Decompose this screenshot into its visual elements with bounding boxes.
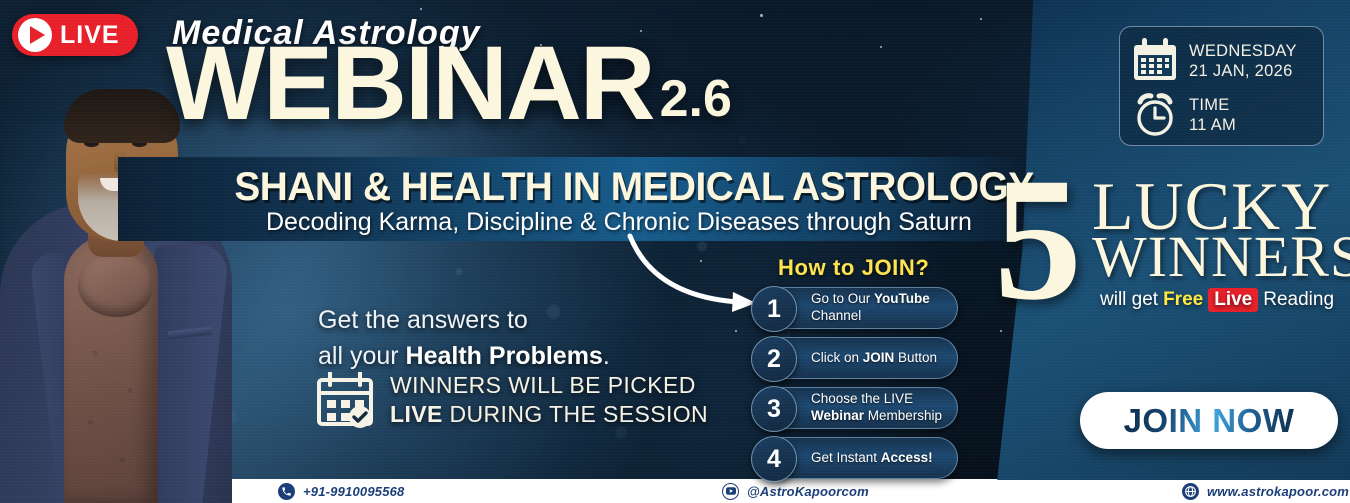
webinar-promo-banner: LIVE Medical Astrology WEBINAR 2.6 SHANI… [0, 0, 1350, 503]
schedule-date-text: WEDNESDAY 21 JAN, 2026 [1189, 42, 1297, 82]
play-icon [18, 18, 52, 52]
step-4-bold: Access! [881, 450, 933, 465]
step-4-pre: Get Instant [811, 450, 881, 465]
step-label-2: Click on JOIN Button [811, 350, 943, 367]
step-3-bold: Webinar [811, 408, 864, 423]
howto-steps: 1 Go to Our YouTube Channel 2 Click on J… [762, 287, 958, 487]
tagline-free: Free [1163, 289, 1203, 311]
tagline-pre: will get [1100, 289, 1158, 311]
tagline-post: Reading [1263, 289, 1334, 311]
schedule-time-text: TIME 11 AM [1189, 96, 1236, 136]
lucky-word-2: WINNERS [1092, 228, 1350, 286]
winners-notice: WINNERS WILL BE PICKED LIVE DURING THE S… [316, 371, 708, 430]
join-now-label: JOIN NOW [1124, 402, 1295, 440]
title-main: WEBINAR [166, 36, 654, 133]
step-3-pre: Choose the LIVE [811, 391, 913, 406]
footer-website-text: www.astrokapoor.com [1207, 484, 1349, 499]
step-1-pre: Go to Our [811, 291, 874, 306]
answers-line-2-pre: all your [318, 342, 406, 370]
answers-line-2: all your Health Problems. [318, 339, 610, 375]
step-label-3: Choose the LIVE Webinar Membership [811, 391, 957, 424]
schedule-time-row: TIME 11 AM [1132, 91, 1313, 141]
calendar-check-icon [316, 372, 374, 428]
footer-phone-text: +91-9910095568 [303, 484, 404, 499]
lucky-winners-block: 5 LUCKY WINNERS will get Free Live Readi… [992, 166, 1344, 316]
step-2-bold: JOIN [863, 350, 895, 365]
step-number-1: 1 [751, 286, 797, 332]
step-number-2: 2 [751, 336, 797, 382]
alarm-clock-icon [1132, 91, 1178, 142]
step-number-3: 3 [751, 386, 797, 432]
step-number-4: 4 [751, 436, 797, 482]
youtube-icon [722, 483, 739, 500]
live-label: LIVE [60, 23, 120, 48]
winners-line-2-bold: LIVE [390, 401, 443, 427]
answers-line-2-bold: Health Problems [406, 342, 603, 370]
schedule-date: 21 JAN, 2026 [1189, 62, 1297, 82]
band-subtitle: Decoding Karma, Discipline & Chronic Dis… [266, 208, 972, 237]
join-now-button[interactable]: JOIN NOW [1080, 392, 1338, 449]
footer-website[interactable]: www.astrokapoor.com [1182, 483, 1349, 500]
title-version: 2.6 [660, 73, 732, 133]
globe-icon [1182, 483, 1199, 500]
howto-heading: How to JOIN? [778, 255, 929, 281]
tagline-live-badge: Live [1208, 288, 1258, 312]
winners-line-1: WINNERS WILL BE PICKED [390, 372, 696, 398]
step-item-4[interactable]: 4 Get Instant Access! [762, 437, 958, 479]
schedule-box: WEDNESDAY 21 JAN, 2026 TIME 11 AM [1119, 26, 1324, 146]
answers-line-1: Get the answers to [318, 303, 610, 339]
step-2-post: Button [894, 350, 937, 365]
step-3-post: Membership [864, 408, 942, 423]
step-1-bold: YouTube [874, 291, 930, 306]
winners-line-2-rest: DURING THE SESSION [443, 401, 708, 427]
lucky-tagline: will get Free Live Reading [1100, 288, 1334, 312]
subtitle-band: SHANI & HEALTH IN MEDICAL ASTROLOGY Deco… [118, 157, 1023, 241]
lucky-count: 5 [994, 152, 1082, 328]
schedule-date-row: WEDNESDAY 21 JAN, 2026 [1132, 37, 1313, 87]
page-title: WEBINAR 2.6 [166, 36, 732, 133]
schedule-day: WEDNESDAY [1189, 42, 1297, 60]
step-label-1: Go to Our YouTube Channel [811, 291, 957, 324]
live-badge[interactable]: LIVE [12, 14, 138, 56]
step-item-3[interactable]: 3 Choose the LIVE Webinar Membership [762, 387, 958, 429]
step-item-2[interactable]: 2 Click on JOIN Button [762, 337, 958, 379]
band-title: SHANI & HEALTH IN MEDICAL ASTROLOGY [234, 165, 1033, 210]
schedule-time-label: TIME [1189, 96, 1230, 114]
calendar-icon [1132, 38, 1178, 87]
answers-block: Get the answers to all your Health Probl… [318, 303, 610, 374]
step-2-pre: Click on [811, 350, 863, 365]
step-item-1[interactable]: 1 Go to Our YouTube Channel [762, 287, 958, 329]
phone-icon [278, 483, 295, 500]
winners-text: WINNERS WILL BE PICKED LIVE DURING THE S… [390, 371, 708, 430]
footer-phone[interactable]: +91-9910095568 [278, 483, 404, 500]
schedule-time-value: 11 AM [1189, 116, 1236, 136]
answers-line-2-post: . [603, 342, 610, 370]
step-label-4: Get Instant Access! [811, 450, 939, 467]
curved-arrow-icon [620, 232, 770, 322]
step-1-post: Channel [811, 308, 861, 323]
